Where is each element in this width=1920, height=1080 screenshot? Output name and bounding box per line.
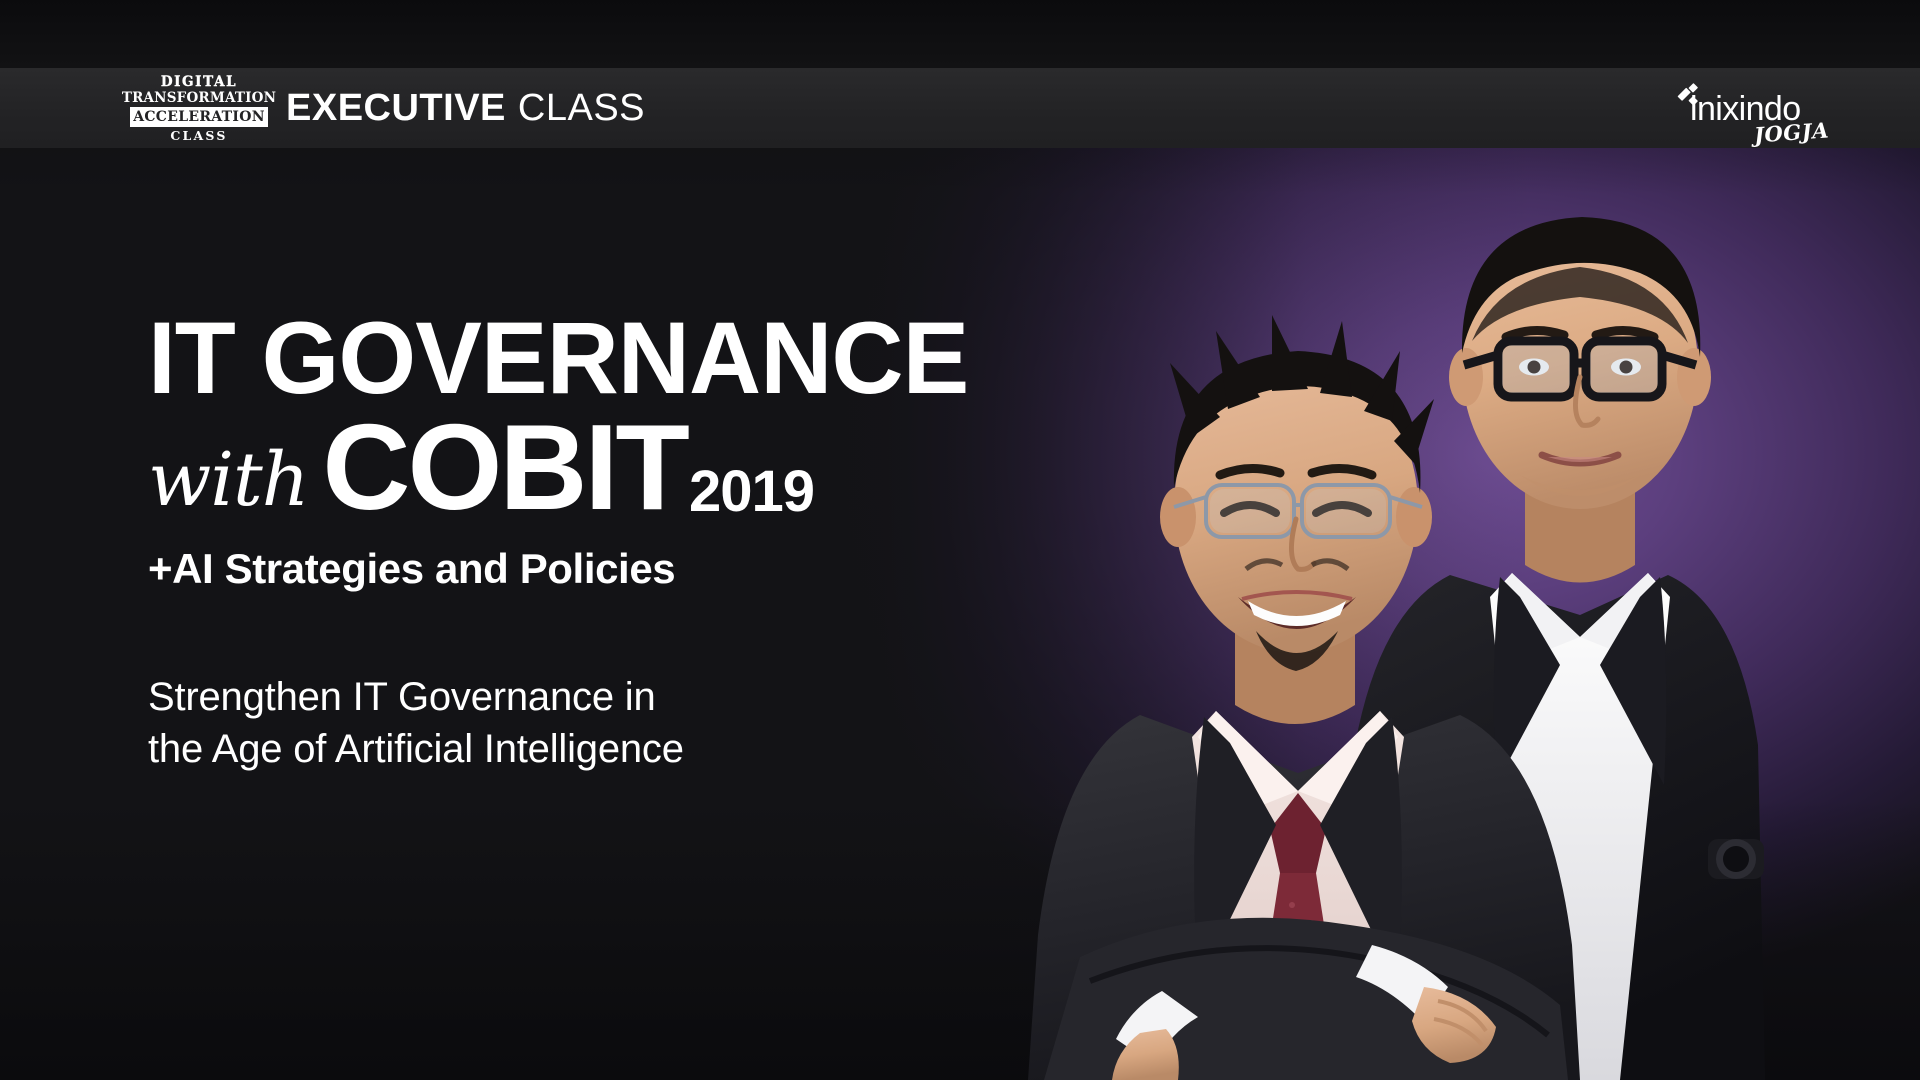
cobit-version: 2019 bbox=[689, 463, 814, 521]
digital-transformation-acceleration-class-badge: DIGITAL TRANSFORMATION ACCELERATION CLAS… bbox=[140, 70, 258, 148]
with-word: with bbox=[148, 443, 308, 517]
badge-line-digital: DIGITAL bbox=[161, 76, 237, 90]
headline-cobit-row: with COBIT 2019 bbox=[148, 413, 1148, 523]
badge-line-class: CLASS bbox=[170, 130, 227, 143]
cobit-wordmark: COBIT bbox=[322, 413, 687, 523]
jogja-subtext: JOGJA bbox=[1753, 119, 1829, 145]
executive-class-title: EXECUTIVE CLASS bbox=[286, 68, 645, 148]
headline-it-governance: IT GOVERNANCE bbox=[148, 310, 1128, 407]
class-word: CLASS bbox=[518, 87, 645, 130]
subheadline-ai-strategies: +AI Strategies and Policies bbox=[148, 545, 1148, 593]
badge-line-transformation: TRANSFORMATION bbox=[122, 92, 276, 106]
executive-word: EXECUTIVE bbox=[286, 87, 506, 130]
description-line-2: the Age of Artificial Intelligence bbox=[148, 723, 1148, 776]
promo-banner: DIGITAL TRANSFORMATION ACCELERATION CLAS… bbox=[0, 0, 1920, 1080]
hero-description: Strengthen IT Governance in the Age of A… bbox=[148, 671, 1148, 777]
hero-content: IT GOVERNANCE with COBIT 2019 +AI Strate… bbox=[148, 310, 1148, 776]
description-line-1: Strengthen IT Governance in bbox=[148, 671, 1148, 724]
inixindo-jogja-logo[interactable]: inixindo JOGJA bbox=[1668, 68, 1828, 148]
speakers-photo bbox=[1020, 145, 1920, 1080]
top-strip bbox=[0, 0, 1920, 68]
badge-line-acceleration: ACCELERATION bbox=[130, 107, 268, 127]
